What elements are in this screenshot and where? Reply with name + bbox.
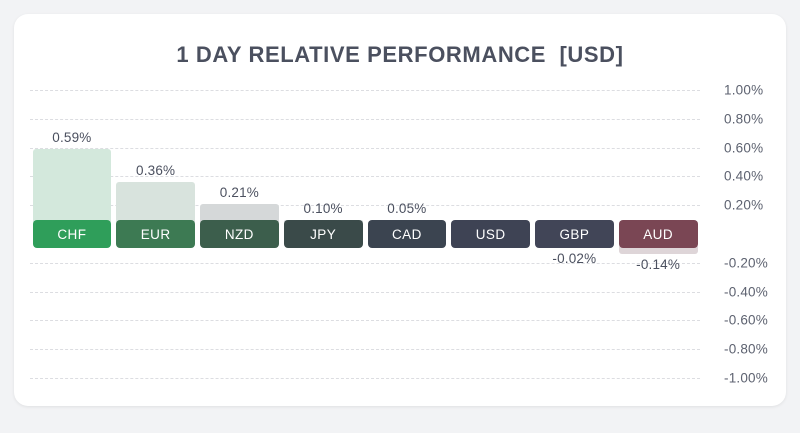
- y-axis-tick-label: 0.80%: [724, 111, 763, 126]
- bar-currency-label: GBP: [560, 227, 590, 242]
- bar-label-band[interactable]: USD: [451, 220, 530, 248]
- page-title: 1 DAY RELATIVE PERFORMANCE [USD]: [14, 42, 786, 68]
- bar-label-band[interactable]: EUR: [116, 220, 195, 248]
- y-axis-tick-label: -0.80%: [724, 342, 768, 357]
- bar-column-aud[interactable]: AUD-0.14%: [619, 90, 698, 378]
- bar-currency-label: USD: [476, 227, 506, 242]
- bar-value-label: 0.59%: [33, 130, 112, 145]
- y-axis-tick-label: -0.20%: [724, 255, 768, 270]
- y-axis-tick-label: -1.00%: [724, 371, 768, 386]
- bar-label-band[interactable]: GBP: [535, 220, 614, 248]
- bar-column-cad[interactable]: CAD0.05%: [368, 90, 447, 378]
- bar-currency-label: EUR: [141, 227, 171, 242]
- screenshot-root: 1 DAY RELATIVE PERFORMANCE [USD] 1.00%0.…: [0, 0, 800, 433]
- bar-column-jpy[interactable]: JPY0.10%: [284, 90, 363, 378]
- bar-label-band[interactable]: JPY: [284, 220, 363, 248]
- bar-value-label: 0.05%: [368, 201, 447, 216]
- bar-label-band[interactable]: CAD: [368, 220, 447, 248]
- bar-currency-label: JPY: [310, 227, 336, 242]
- bar-fill: [33, 149, 112, 222]
- bar-label-band[interactable]: NZD: [200, 220, 279, 248]
- chart-plot-area: 1.00%0.80%0.60%0.40%0.20%-0.20%-0.40%-0.…: [30, 90, 700, 378]
- y-axis-tick-label: 0.40%: [724, 169, 763, 184]
- y-axis-tick-label: 1.00%: [724, 83, 763, 98]
- bar-column-usd[interactable]: USD: [451, 90, 530, 378]
- bar-fill: [116, 182, 195, 222]
- bar-value-label: 0.21%: [200, 185, 279, 200]
- bar-label-band[interactable]: AUD: [619, 220, 698, 248]
- bar-column-nzd[interactable]: NZD0.21%: [200, 90, 279, 378]
- chart-card: 1 DAY RELATIVE PERFORMANCE [USD] 1.00%0.…: [14, 14, 786, 406]
- bar-currency-label: CAD: [392, 227, 422, 242]
- bar-value-label: 0.10%: [284, 201, 363, 216]
- bar-value-label: -0.02%: [535, 251, 614, 266]
- bar-currency-label: AUD: [643, 227, 673, 242]
- y-axis-tick-label: -0.40%: [724, 284, 768, 299]
- bar-column-gbp[interactable]: GBP-0.02%: [535, 90, 614, 378]
- gridline: [30, 378, 700, 379]
- y-axis-tick-label: 0.20%: [724, 198, 763, 213]
- bar-column-eur[interactable]: EUR0.36%: [116, 90, 195, 378]
- bar-currency-label: NZD: [225, 227, 254, 242]
- bar-currency-label: CHF: [57, 227, 86, 242]
- y-axis-tick-label: -0.60%: [724, 313, 768, 328]
- bar-value-label: -0.14%: [619, 257, 698, 272]
- y-axis-tick-label: 0.60%: [724, 140, 763, 155]
- bar-value-label: 0.36%: [116, 163, 195, 178]
- bar-column-chf[interactable]: CHF0.59%: [33, 90, 112, 378]
- bar-label-band[interactable]: CHF: [33, 220, 112, 248]
